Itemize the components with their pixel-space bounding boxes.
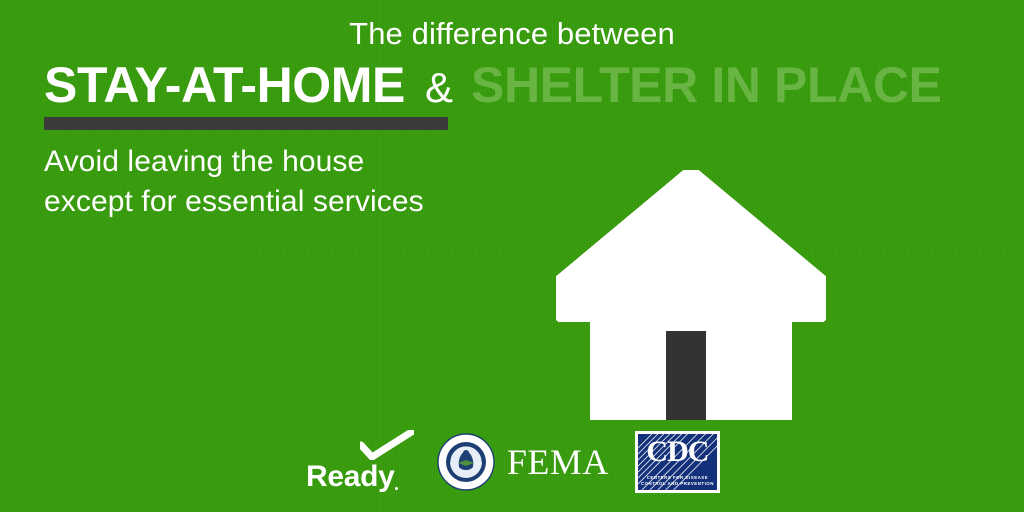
ready-wordmark: Ready xyxy=(306,462,395,492)
headline-emphasized-term: STAY-AT-HOME xyxy=(44,60,405,110)
agency-logo-strip: Ready FEMA xyxy=(300,424,720,500)
headline: STAY-AT-HOME & SHELTER IN PLACE xyxy=(44,60,941,110)
cdc-logo-field: CDC CENTERS FOR DISEASE CONTROL AND PREV… xyxy=(638,434,717,490)
dhs-seal-icon xyxy=(437,433,495,491)
cdc-letters: CDC xyxy=(638,435,717,470)
cdc-logo: CDC CENTERS FOR DISEASE CONTROL AND PREV… xyxy=(635,431,720,493)
subhead-text: Avoid leaving the house except for essen… xyxy=(44,142,424,222)
headline-separator: & xyxy=(425,67,453,109)
poster-canvas: The difference between STAY-AT-HOME & SH… xyxy=(0,0,1024,512)
headline-underline-rule xyxy=(44,117,448,130)
subhead-line-1: Avoid leaving the house xyxy=(44,142,424,182)
subhead-line-2: except for essential services xyxy=(44,182,424,222)
check-swoosh-icon xyxy=(360,430,414,460)
cdc-tagline-line-2: CONTROL AND PREVENTION xyxy=(638,481,717,488)
cdc-tagline: CENTERS FOR DISEASE CONTROL AND PREVENTI… xyxy=(638,475,717,488)
house-door-shape xyxy=(666,331,706,420)
kicker-text: The difference between xyxy=(0,18,1024,49)
house-icon xyxy=(556,170,826,420)
ready-trademark-dot xyxy=(395,487,398,490)
headline-muted-term: SHELTER IN PLACE xyxy=(471,60,941,110)
cdc-tagline-line-1: CENTERS FOR DISEASE xyxy=(638,475,717,482)
fema-wordmark: FEMA xyxy=(507,444,609,480)
dhs-seal-graphic xyxy=(437,433,495,491)
ready-logo: Ready xyxy=(300,424,409,500)
